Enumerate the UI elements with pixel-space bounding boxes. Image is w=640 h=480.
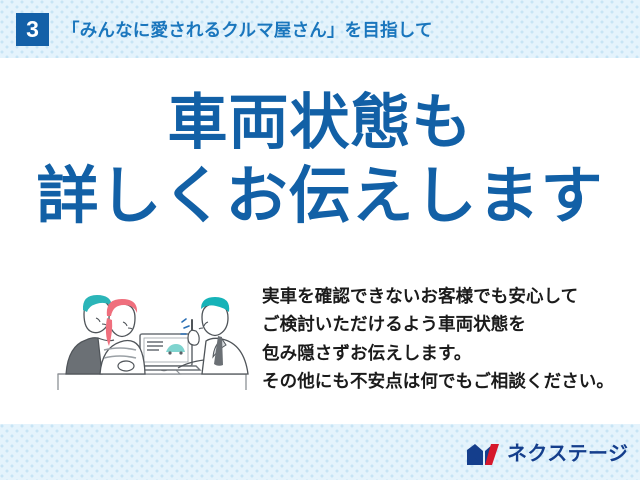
headline: 車両状態も 詳しくお伝えします [0,92,640,228]
header: 3 「みんなに愛されるクルマ屋さん」を目指して [0,0,640,58]
body-section: 実車を確認できないお客様でも安心して ご検討いただけるよう車両状態を 包み隠さず… [0,272,640,402]
nextage-n-logo-icon [466,442,500,467]
body-copy-line-2: ご検討いただけるよう車両状態を [262,310,622,338]
header-title: 「みんなに愛されるクルマ屋さん」を目指して [62,17,433,42]
brand-logo-lockup: ネクステージ [466,440,628,468]
body-copy: 実車を確認できないお客様でも安心して ご検討いただけるよう車両状態を 包み隠さず… [262,282,622,395]
headline-line-2: 詳しくお伝えします [0,165,640,228]
body-copy-line-3: 包み隠さずお伝えします。 [262,339,622,367]
step-number-badge: 3 [16,13,49,46]
headline-line-1: 車両状態も [0,92,640,153]
body-copy-line-1: 実車を確認できないお客様でも安心して [262,282,622,310]
consultation-illustration [52,278,252,396]
advertisement-panel: 3 「みんなに愛されるクルマ屋さん」を目指して 車両状態も 詳しくお伝えします [0,0,640,480]
body-copy-line-4: その他にも不安点は何でもご相談ください。 [262,367,622,395]
brand-wordmark: ネクステージ [507,444,628,464]
